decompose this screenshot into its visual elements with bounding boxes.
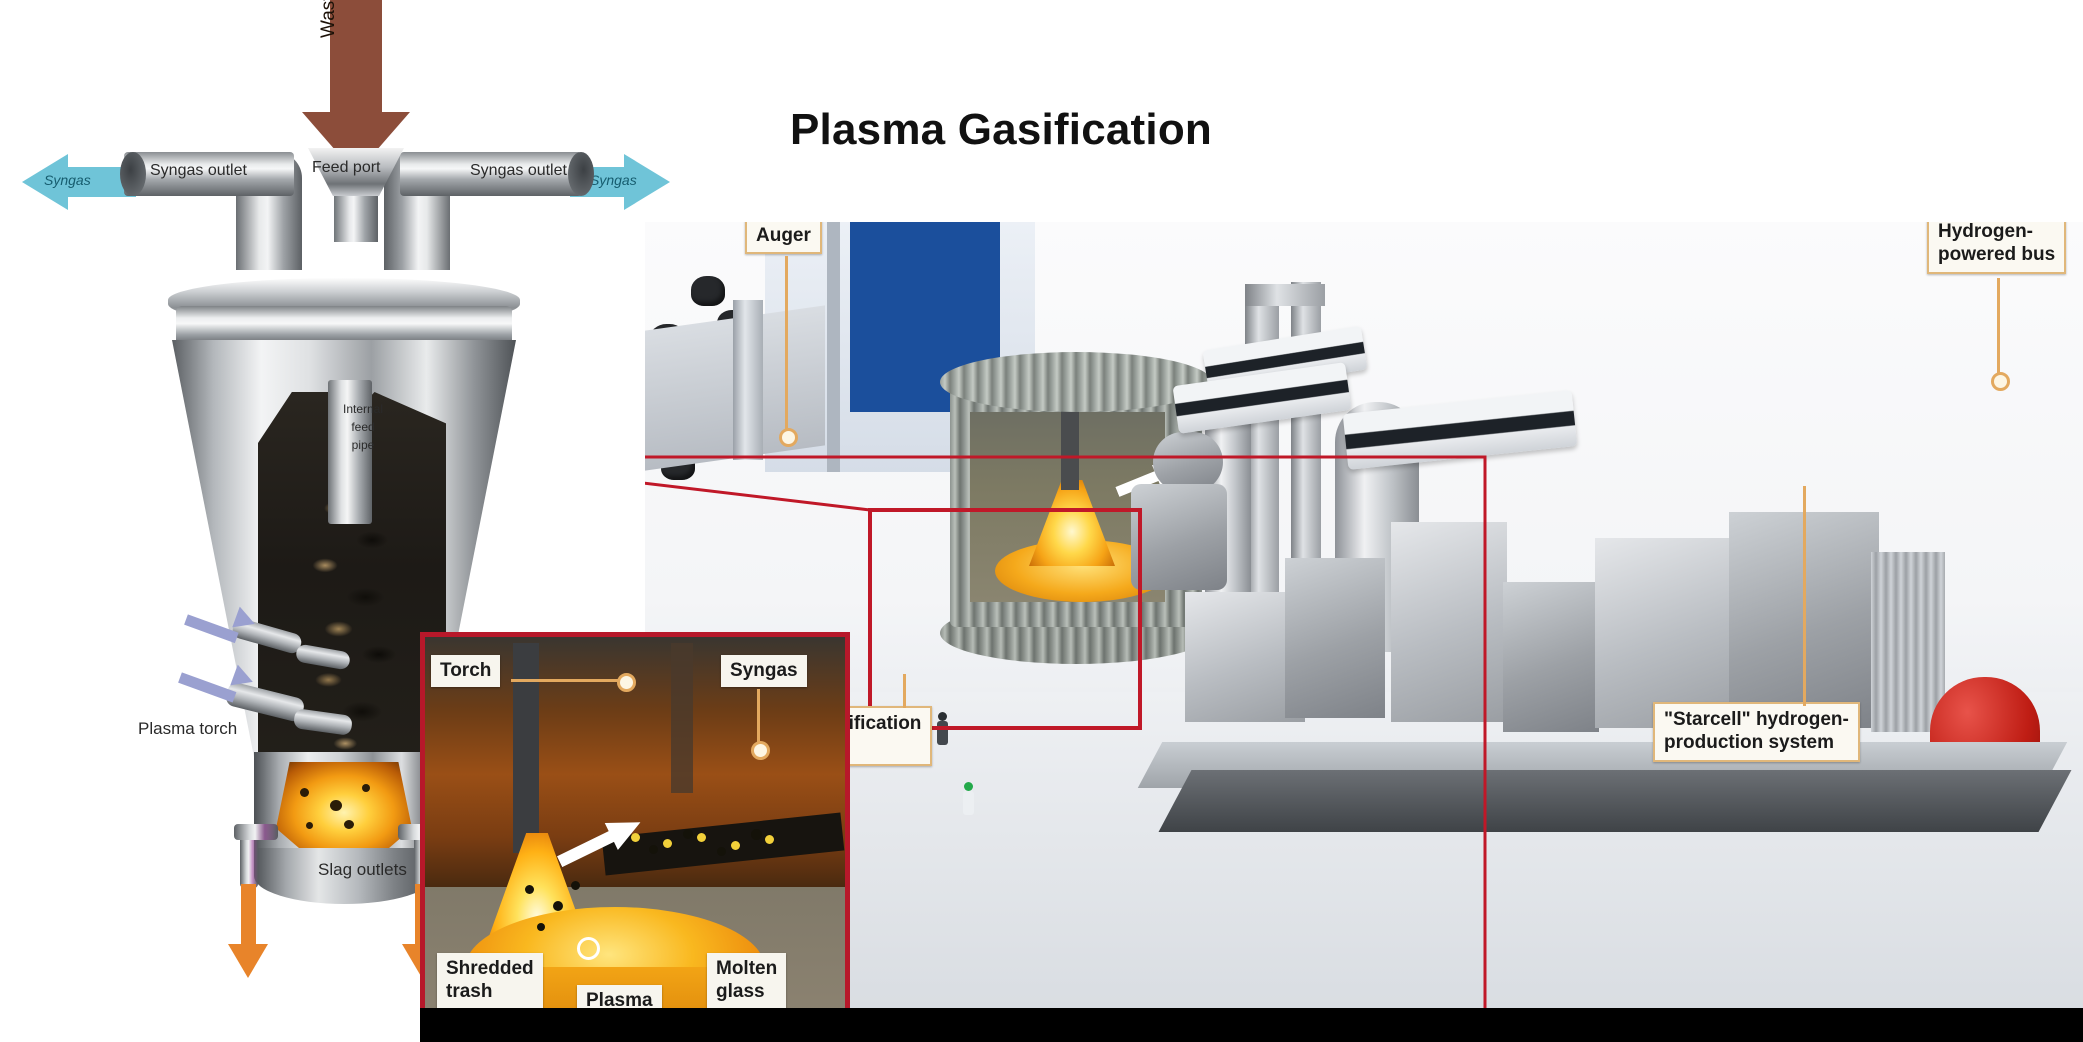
internal-feed-pipe-label-line3: pipe <box>330 436 396 454</box>
callout-molten-glass: Molten glass <box>707 953 786 1009</box>
pool-speck <box>344 820 354 829</box>
syngas-particle <box>631 833 640 842</box>
trash-bag <box>691 276 725 306</box>
plasma-torch-label: Plasma torch <box>138 719 237 739</box>
internal-feed-pipe-label: Internal feed pipe <box>330 400 396 454</box>
callout-syngas-label: Syngas <box>730 660 798 681</box>
magnified-chamber-inset: Torch Syngas Shredded trash Plasma Molte… <box>420 632 850 1042</box>
trash-particle <box>553 901 563 911</box>
process-block-3 <box>1391 522 1507 722</box>
callout-hydrogen-bus-line2: powered bus <box>1938 244 2055 267</box>
syngas-leader-line <box>757 689 760 747</box>
chamber-leader-line <box>903 674 906 708</box>
callout-syngas: Syngas <box>721 655 807 687</box>
trash-particle <box>525 885 534 894</box>
molten-pool <box>276 762 412 854</box>
inset-plasma-marker <box>577 937 600 960</box>
elbow-duct <box>1153 432 1223 492</box>
plant-base-slab <box>1159 770 2072 832</box>
gasifier-torch-rod <box>1061 404 1079 490</box>
syngas-leader-dot <box>751 741 770 760</box>
callout-starcell-line1: "Starcell" hydrogen- <box>1664 709 1849 732</box>
gasifier-vessel-top <box>940 352 1212 412</box>
callout-auger: Auger <box>745 222 822 254</box>
callout-hydrogen-bus-line1: Hydrogen- <box>1938 222 2055 244</box>
syngas-pipe-right-opening <box>568 152 594 196</box>
pool-speck <box>306 822 313 829</box>
syngas-pipe-left-opening <box>120 152 146 196</box>
trash-particle <box>717 847 726 856</box>
hydrogen-bus-leader-line <box>1997 278 2000 378</box>
syngas-outlet-right-label: Syngas outlet <box>470 162 567 180</box>
slag-arrow-left-head <box>228 944 268 978</box>
callout-starcell: "Starcell" hydrogen- production system <box>1653 702 1860 762</box>
torch-leader-dot <box>617 673 636 692</box>
callout-hydrogen-bus: Hydrogen- powered bus <box>1927 222 2066 274</box>
pool-speck <box>300 788 309 797</box>
callout-torch-label: Torch <box>440 660 491 681</box>
syngas-particle <box>765 835 774 844</box>
auger-leader-line <box>785 256 788 434</box>
bottom-black-bar <box>420 1008 2083 1042</box>
worker-body <box>963 791 974 815</box>
stack-crossover <box>1245 284 1325 306</box>
syngas-arrow-left-label: Syngas <box>44 172 91 188</box>
facility-wall-post <box>827 222 840 472</box>
worker-head <box>964 782 973 791</box>
worker-body <box>937 721 948 745</box>
callout-auger-label: Auger <box>756 225 811 246</box>
starcell-leader-line <box>1803 486 1806 706</box>
plant-rendering-photo: Auger Hydrogen- powered bus Plasma gasif… <box>645 222 2083 1008</box>
callout-torch: Torch <box>431 655 500 687</box>
inset-torch-rod <box>513 643 539 853</box>
worker-head <box>938 712 947 721</box>
trash-particle <box>537 923 545 931</box>
internal-feed-pipe-label-line2: feed <box>330 418 396 436</box>
callout-shredded-trash-line2: trash <box>446 981 534 1004</box>
process-block-4 <box>1503 582 1599 732</box>
callout-molten-glass-line2: glass <box>716 981 777 1004</box>
duct-housing <box>1131 484 1227 590</box>
torch-leader-line <box>511 679 623 682</box>
syngas-particle <box>663 839 672 848</box>
plasma-gasification-figure: Plasma Gasification Waste Syngas Syngas … <box>0 0 2083 1042</box>
page-title: Plasma Gasification <box>790 105 1212 155</box>
trash-particle <box>571 881 580 890</box>
syngas-outlet-left-label: Syngas outlet <box>150 162 247 180</box>
trash-particle <box>683 829 693 839</box>
waste-label: Waste <box>318 0 340 38</box>
auger-tube <box>733 300 763 460</box>
callout-shredded-trash: Shredded trash <box>437 953 543 1009</box>
callout-shredded-trash-line1: Shredded <box>446 958 534 981</box>
callout-molten-glass-line1: Molten <box>716 958 777 981</box>
slag-outlets-label: Slag outlets <box>318 860 407 880</box>
pool-speck <box>330 800 342 811</box>
auger-leader-dot <box>779 428 798 447</box>
process-block-5 <box>1595 538 1735 728</box>
syngas-arrow-right-label: Syngas <box>590 172 637 188</box>
hydrogen-bus-leader-dot <box>1991 372 2010 391</box>
feed-port-neck <box>334 194 378 242</box>
inset-secondary-rod <box>671 643 693 793</box>
process-block-2 <box>1285 558 1385 718</box>
slag-arrow-left-shaft <box>241 884 256 946</box>
internal-feed-pipe-label-line1: Internal <box>330 400 396 418</box>
slag-pipe-left-elbow <box>234 824 278 840</box>
syngas-particle <box>731 841 740 850</box>
finned-cooler <box>1871 552 1945 732</box>
callout-starcell-line2: production system <box>1664 732 1849 755</box>
trash-particle <box>751 829 762 840</box>
pool-speck <box>362 784 370 792</box>
exhaust-stack-2 <box>1291 282 1321 602</box>
trash-particle <box>649 845 658 854</box>
syngas-particle <box>697 833 706 842</box>
feed-port-label: Feed port <box>312 159 380 177</box>
